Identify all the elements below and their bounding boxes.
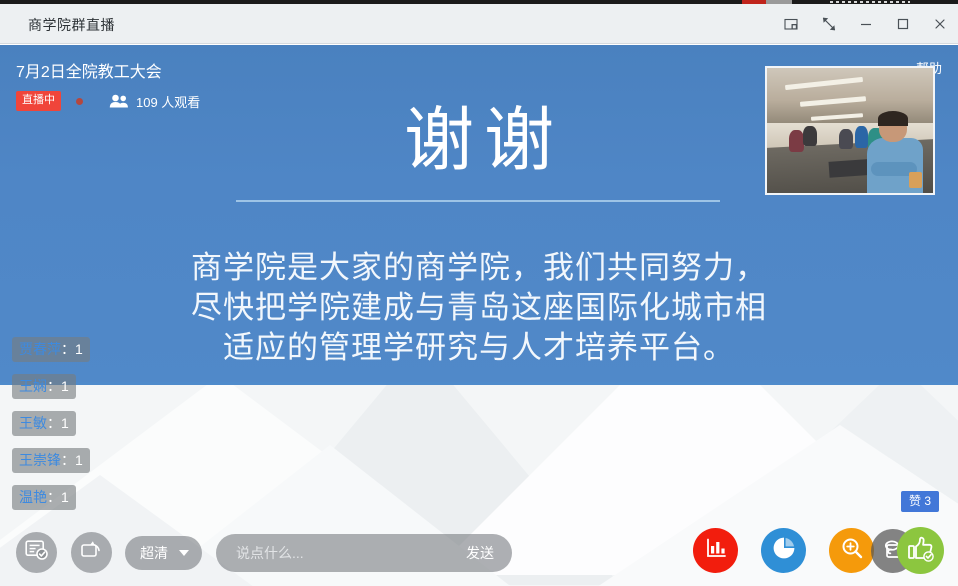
maximize-button[interactable] <box>884 4 921 44</box>
minimize-button[interactable] <box>847 4 884 44</box>
live-stream-window: 商学院群直播 <box>0 0 958 586</box>
maximize-icon <box>896 17 910 31</box>
like-button[interactable]: 赞 3 <box>897 527 944 574</box>
pip-attendee <box>803 126 817 146</box>
quality-label: 超清 <box>140 543 168 563</box>
chat-text: 1 <box>61 415 69 431</box>
chat-input-container[interactable]: 发送 <box>216 534 512 572</box>
send-button[interactable]: 发送 <box>466 543 494 563</box>
slide-divider <box>236 200 720 202</box>
chat-text: 1 <box>61 489 69 505</box>
rotate-screen-button[interactable] <box>71 532 112 573</box>
status-badge: 直播中 <box>16 91 61 111</box>
chat-message: 贾春萍：1 <box>12 337 90 362</box>
sliver-dotted-segment <box>830 1 910 3</box>
chat-text: 1 <box>61 378 69 394</box>
pip-attendee <box>789 130 804 152</box>
window-controls <box>773 4 958 44</box>
chat-input[interactable] <box>236 545 456 561</box>
live-header: 7月2日全院教工大会 直播中 109 人观看 <box>16 58 200 111</box>
pie-chart-icon <box>772 536 796 565</box>
chat-overlay: 贾春萍：1 王娴：1 王敏：1 王崇锋：1 温艳：1 <box>12 337 90 510</box>
like-control: 赞 3 <box>897 527 944 574</box>
signin-button[interactable] <box>16 532 57 573</box>
title-bar: 商学院群直播 <box>0 4 958 44</box>
pie-chart-button[interactable] <box>761 528 806 573</box>
app-title: 商学院群直播 <box>28 15 115 35</box>
chevron-down-icon <box>179 550 189 556</box>
magnifier-plus-icon <box>840 536 864 565</box>
chat-message: 王娴：1 <box>12 374 76 399</box>
viewer-count: 109 人观看 <box>136 92 200 111</box>
like-count-badge: 赞 3 <box>901 491 939 512</box>
chat-user: 王敏 <box>19 415 47 431</box>
chat-separator: ： <box>47 415 61 431</box>
close-button[interactable] <box>921 4 958 44</box>
minimize-icon <box>859 17 873 31</box>
stream-stage[interactable]: 谢谢 商学院是大家的商学院，我们共同努力，尽快把学院建成与青岛这座国际化城市相适… <box>0 45 958 586</box>
popout-icon <box>784 17 799 32</box>
live-session-title: 7月2日全院教工大会 <box>16 58 200 82</box>
bar-chart-button[interactable] <box>693 528 738 573</box>
chat-text: 1 <box>75 452 83 468</box>
chat-message: 王敏：1 <box>12 411 76 436</box>
chat-separator: ： <box>47 378 61 394</box>
chat-separator: ： <box>61 452 75 468</box>
zoom-in-button[interactable] <box>829 528 874 573</box>
rotate-screen-icon <box>80 539 104 566</box>
recording-dot-icon <box>76 98 83 105</box>
chat-text: 1 <box>75 341 83 357</box>
camera-pip[interactable] <box>765 66 935 195</box>
bar-chart-icon <box>704 536 728 565</box>
bottom-left-controls: 超清 发送 <box>16 532 512 573</box>
chat-user: 王娴 <box>19 378 47 394</box>
document-check-icon <box>25 539 49 566</box>
shrink-arrows-icon <box>821 16 837 32</box>
live-meta-row: 直播中 109 人观看 <box>16 91 200 111</box>
chat-message: 温艳：1 <box>12 485 76 510</box>
chat-user: 王崇锋 <box>19 452 61 468</box>
chat-separator: ： <box>61 341 75 357</box>
chat-message: 王崇锋：1 <box>12 448 90 473</box>
chat-user: 温艳 <box>19 489 47 505</box>
pip-attendee <box>855 126 868 148</box>
people-icon <box>109 94 129 108</box>
chat-user: 贾春萍 <box>19 341 61 357</box>
pip-cup <box>909 172 922 188</box>
pip-attendee <box>839 129 853 149</box>
restore-size-button[interactable] <box>810 4 847 44</box>
popout-window-button[interactable] <box>773 4 810 44</box>
thumbs-up-icon <box>907 535 934 567</box>
bottom-right-actions: 赞 3 <box>693 527 944 574</box>
chat-separator: ： <box>47 489 61 505</box>
close-icon <box>933 17 947 31</box>
pip-speaker-hair <box>878 111 908 126</box>
quality-selector[interactable]: 超清 <box>125 536 202 570</box>
slide-body-text: 商学院是大家的商学院，我们共同努力，尽快把学院建成与青岛这座国际化城市相适应的管… <box>179 248 779 368</box>
